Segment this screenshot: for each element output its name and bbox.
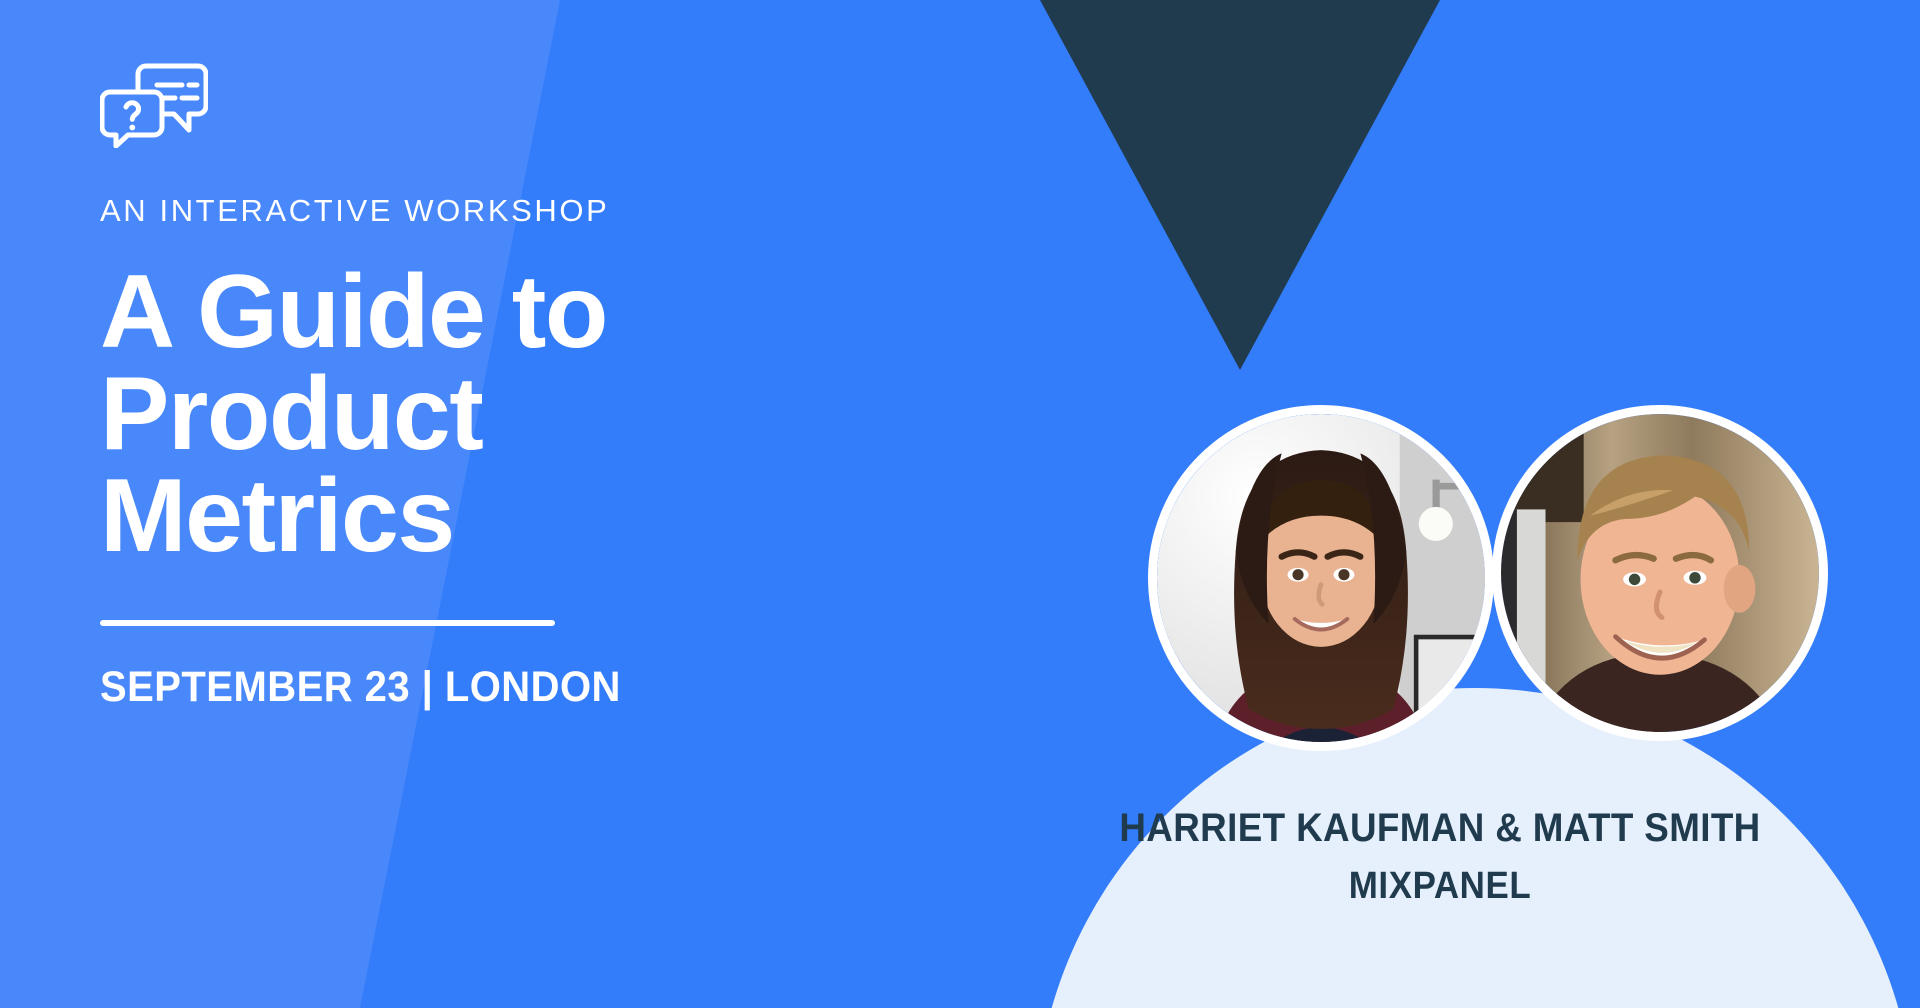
title-line-3: Metrics <box>100 466 860 568</box>
speaker-company: MIXPANEL <box>1109 866 1771 908</box>
chat-bubbles-question-icon <box>100 62 208 148</box>
title-line-2: Product <box>100 364 860 466</box>
avatar-harriet-kaufman <box>1148 405 1494 751</box>
avatar-image-1 <box>1157 414 1485 742</box>
left-content-column: AN INTERACTIVE WORKSHOP A Guide to Produ… <box>100 62 860 711</box>
title-line-1: A Guide to <box>100 262 860 364</box>
eyebrow-text: AN INTERACTIVE WORKSHOP <box>100 194 860 228</box>
speaker-names: HARRIET KAUFMAN & MATT SMITH <box>1109 806 1771 850</box>
page-title: A Guide to Product Metrics <box>100 262 860 568</box>
workshop-promo-poster: AN INTERACTIVE WORKSHOP A Guide to Produ… <box>0 0 1920 1008</box>
avatar-matt-smith <box>1492 405 1828 741</box>
divider-rule <box>100 620 555 626</box>
date-location-text: SEPTEMBER 23 | LONDON <box>100 664 807 711</box>
avatar-image-2 <box>1501 414 1819 732</box>
